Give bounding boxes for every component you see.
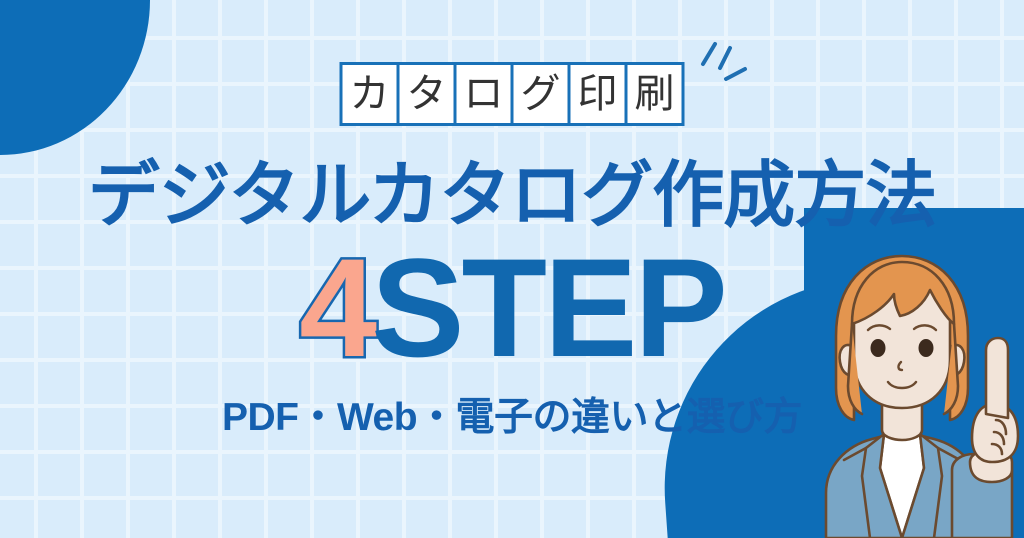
sparkle-lines-icon [693,38,753,94]
catalog-banner: カ タ ロ グ 印 刷 デジタルカタログ作成方法 4STEP PDF・Web・電… [0,0,1024,538]
kicker-box-char: タ [397,62,457,126]
step-number: 4 [299,229,371,386]
right-eye [919,339,934,357]
kicker-box-char: グ [511,62,571,126]
kicker-box-char: 刷 [625,62,685,126]
index-finger [986,338,1008,418]
kicker-box-char: ロ [454,62,514,126]
businesswoman-pointing-up-illustration [774,238,1024,538]
kicker-boxes: カ タ ロ グ 印 刷 [340,62,685,126]
step-word: STEP [371,229,725,386]
kicker-box-char: カ [340,62,400,126]
left-eye [871,339,886,357]
kicker-box-char: 印 [568,62,628,126]
page-title: デジタルカタログ作成方法 [0,160,1024,232]
